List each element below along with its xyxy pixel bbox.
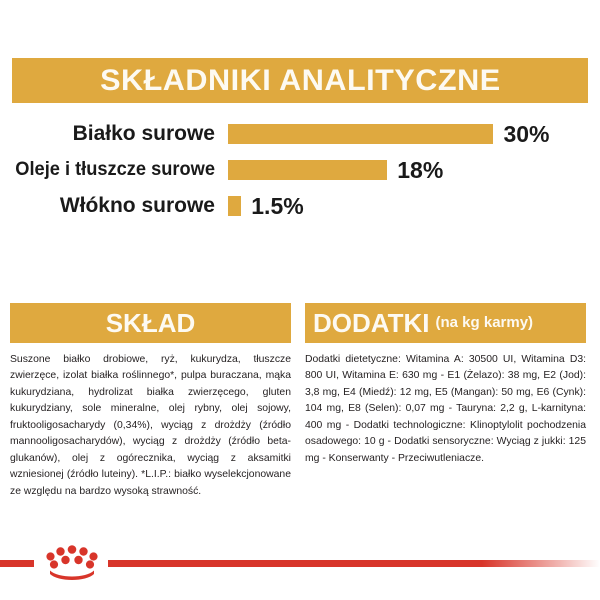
chart-row: Oleje i tłuszcze surowe 18% <box>0 152 600 188</box>
additives-column: DODATKI (na kg karmy) Dodatki dietetyczn… <box>305 303 586 500</box>
composition-column: SKŁAD Suszone białko drobiowe, ryż, kuku… <box>10 303 291 500</box>
chart-row-label: Włókno surowe <box>0 194 215 218</box>
footer-rule-right <box>108 560 600 567</box>
nutrition-label-panel: SKŁADNIKI ANALITYCZNE Białko surowe 30% … <box>0 0 600 600</box>
brand-footer-bar <box>0 556 600 570</box>
chart-bar-value: 30% <box>503 123 549 146</box>
chart-bar <box>228 160 387 180</box>
analytical-constituents-banner: SKŁADNIKI ANALITYCZNE <box>12 58 588 103</box>
chart-bar <box>228 196 241 216</box>
additives-heading-band: DODATKI (na kg karmy) <box>305 303 586 343</box>
chart-row: Białko surowe 30% <box>0 116 600 152</box>
additives-heading-subtitle: (na kg karmy) <box>436 315 534 331</box>
chart-bar-value: 1.5% <box>251 195 303 218</box>
analytical-constituents-chart: Białko surowe 30% Oleje i tłuszcze surow… <box>0 116 600 224</box>
chart-bar-track: 18% <box>228 160 594 180</box>
royal-canin-crown-icon <box>40 542 104 582</box>
additives-body-text: Dodatki dietetyczne: Witamina A: 30500 U… <box>305 352 586 467</box>
composition-body-text: Suszone białko drobiowe, ryż, kukurydza,… <box>10 352 291 500</box>
chart-bar-track: 1.5% <box>228 196 594 216</box>
banner-title: SKŁADNIKI ANALITYCZNE <box>100 66 501 96</box>
composition-heading: SKŁAD <box>106 310 196 336</box>
chart-row-label: Białko surowe <box>0 122 215 146</box>
chart-bar <box>228 124 493 144</box>
additives-heading: DODATKI <box>313 310 430 336</box>
footer-rule-left <box>0 560 34 567</box>
chart-row-label: Oleje i tłuszcze surowe <box>9 159 215 181</box>
composition-heading-band: SKŁAD <box>10 303 291 343</box>
chart-row: Włókno surowe 1.5% <box>0 188 600 224</box>
ingredients-additives-columns: SKŁAD Suszone białko drobiowe, ryż, kuku… <box>0 303 600 500</box>
chart-bar-value: 18% <box>397 159 443 182</box>
chart-bar-track: 30% <box>228 124 594 144</box>
